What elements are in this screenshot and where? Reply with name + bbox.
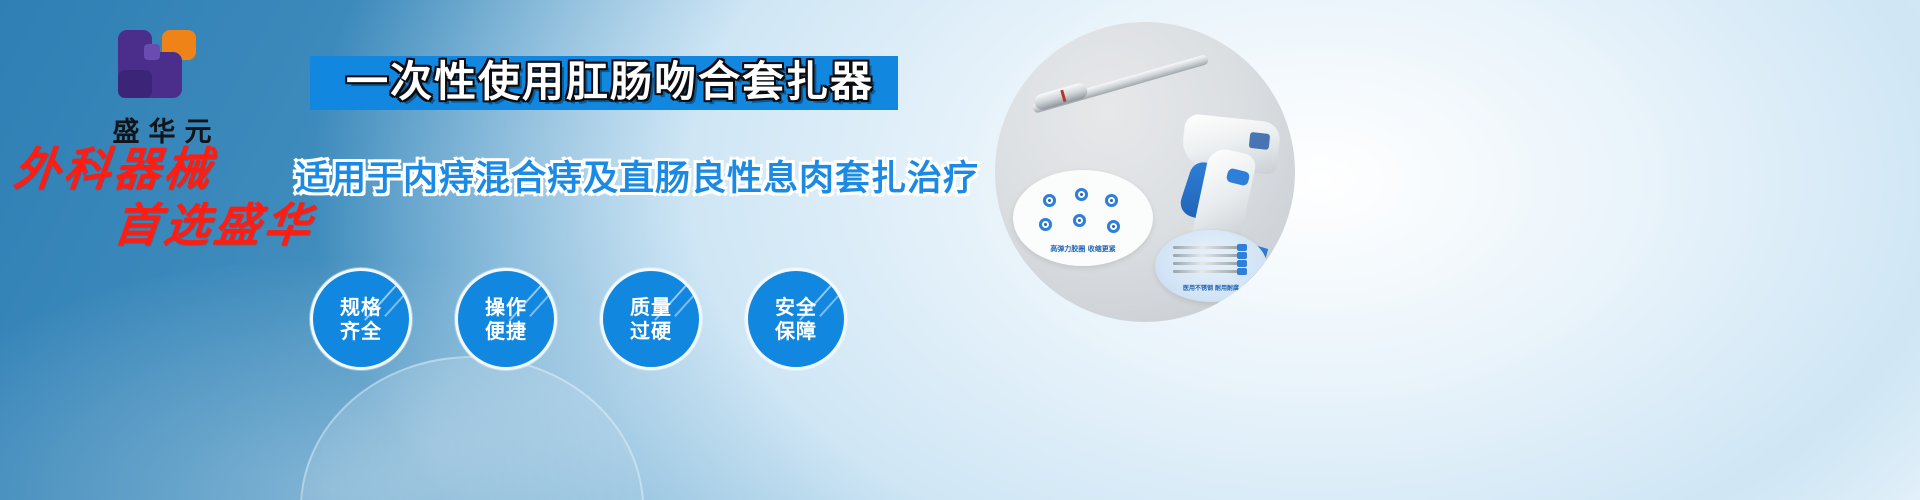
feature-badge-safety[interactable]: 安全 保障 [745, 268, 847, 370]
rubber-ring-icon [1073, 214, 1086, 227]
needle-icon [1173, 270, 1245, 273]
rubber-ring-icon [1043, 194, 1056, 207]
badge-sheen-icon [674, 293, 696, 317]
slogan-line-2: 首选盛华 [112, 202, 357, 248]
needle-icon [1173, 254, 1245, 257]
badge-sheen-icon [819, 293, 841, 317]
product-photo: 高弹力胶圈 收缩更紧 医用不锈钢 耐用耐腐 [995, 22, 1295, 322]
badge-label-line-1: 操作 [485, 295, 527, 319]
needle-icon [1173, 262, 1245, 265]
rubber-ring-icon [1039, 218, 1052, 231]
background-bubble [300, 356, 644, 500]
inset-ligation-needles: 医用不锈钢 耐用耐腐 [1155, 230, 1267, 302]
badge-label-line-2: 便捷 [485, 319, 527, 343]
ligation-gun-indicator-icon [1249, 132, 1271, 150]
shenghuayuan-logo-icon [116, 26, 208, 104]
promo-banner: 盛华元 外科器械 首选盛华 一次性使用肛肠吻合套扎器 适用于内痔混合痔及直肠良性… [0, 0, 1920, 500]
badge-label-line-2: 保障 [775, 319, 817, 343]
needle-icon [1173, 246, 1245, 249]
rubber-ring-icon [1075, 188, 1088, 201]
rubber-ring-icon [1105, 194, 1118, 207]
badge-label-line-1: 质量 [630, 295, 672, 319]
subtitle-text: 适用于内痔混合痔及直肠良性息肉套扎治疗 [295, 158, 915, 200]
rubber-ring-icon [1107, 220, 1120, 233]
badge-label-line-1: 规格 [340, 295, 382, 319]
badge-sheen-icon [384, 293, 406, 317]
inset-rubber-rings: 高弹力胶圈 收缩更紧 [1013, 170, 1153, 266]
headline-title: 一次性使用肛肠吻合套扎器 [330, 52, 890, 112]
badge-label-line-2: 过硬 [630, 319, 672, 343]
feature-badge-specs[interactable]: 规格 齐全 [310, 268, 412, 370]
inset-needles-caption: 医用不锈钢 耐用耐腐 [1155, 283, 1267, 292]
ligation-gun-tip [1033, 81, 1089, 111]
badge-label-line-1: 安全 [775, 295, 817, 319]
badge-sheen-icon [529, 293, 551, 317]
brand-logo[interactable]: 盛华元 [62, 26, 262, 149]
feature-badge-quality[interactable]: 质量 过硬 [600, 268, 702, 370]
badge-label-line-2: 齐全 [340, 319, 382, 343]
feature-badge-list: 规格 齐全 操作 便捷 质量 过硬 安全 保障 [310, 268, 847, 370]
inset-ligation-cartridge [1207, 298, 1295, 322]
feature-badge-operation[interactable]: 操作 便捷 [455, 268, 557, 370]
inset-rubber-rings-caption: 高弹力胶圈 收缩更紧 [1013, 244, 1153, 254]
